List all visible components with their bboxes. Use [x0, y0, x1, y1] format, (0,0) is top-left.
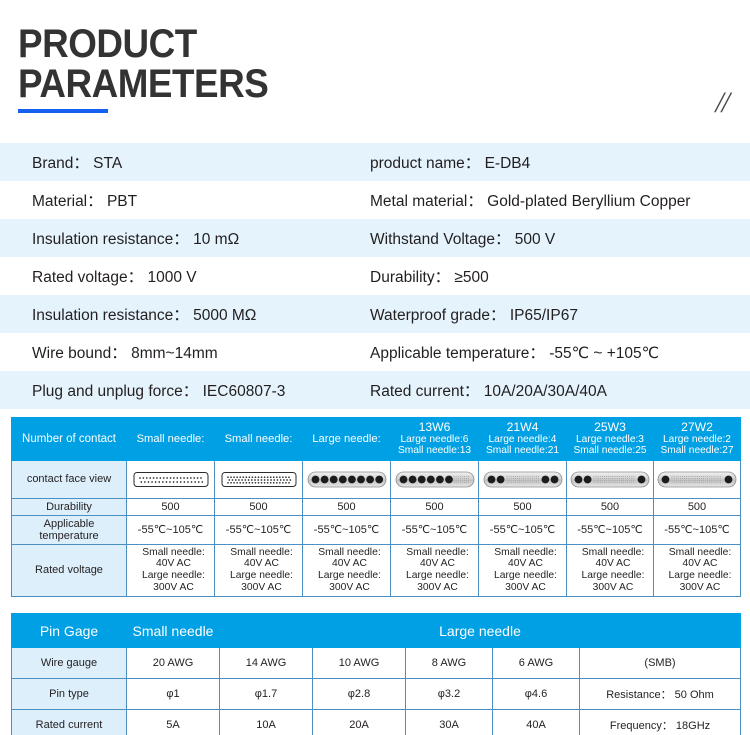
- table-cell: 500: [654, 498, 741, 515]
- table-row: Pin typeφ1φ1.7φ2.8φ3.2φ4.6Resistance： 50…: [12, 679, 741, 710]
- table-cell: 5A: [127, 710, 220, 735]
- contact-table: Number of contactSmall needle:37Small ne…: [11, 417, 741, 597]
- spec-entry-left: Rated voltage： 1000 V: [0, 265, 370, 287]
- spec-row: Material： PBTMetal material： Gold-plated…: [0, 181, 750, 219]
- spec-value: 10 mΩ: [193, 231, 239, 248]
- spec-key: Wire bound：: [32, 345, 131, 362]
- spec-key: product name：: [370, 155, 485, 172]
- table-cell: 30A: [406, 710, 493, 735]
- spec-value: -55℃ ~ +105℃: [549, 345, 659, 362]
- spec-list: Brand： STAproduct name： E-DB4Material： P…: [0, 143, 750, 409]
- contact-face-graphic: [127, 460, 215, 498]
- spec-key: Insulation resistance：: [32, 231, 193, 248]
- table-row: Rated current5A10A20A30A40AFrequency： 18…: [12, 710, 741, 735]
- contact-face-graphic: [567, 460, 654, 498]
- spec-row: Insulation resistance： 10 mΩWithstand Vo…: [0, 219, 750, 257]
- table-cell: 20A: [313, 710, 406, 735]
- spec-key: Insulation resistance：: [32, 307, 193, 324]
- table-cell: φ1: [127, 679, 220, 710]
- table-cell: 20 AWG: [127, 648, 220, 679]
- contact-face-graphic: [479, 460, 567, 498]
- table-cell: -55℃~105℃: [654, 515, 741, 544]
- table-cell: 500: [303, 498, 391, 515]
- table-cell: φ2.8: [313, 679, 406, 710]
- page-title: PRODUCT PARAMETERS: [18, 24, 290, 113]
- table-cell: 500: [391, 498, 479, 515]
- spec-key: Waterproof grade：: [370, 307, 510, 324]
- table-row: contact face view: [12, 460, 741, 498]
- pin-gage-body: Wire gauge20 AWG14 AWG10 AWG8 AWG6 AWG(S…: [12, 648, 741, 735]
- rated-voltage-cell: Small needle: 40V AC Large needle: 300V …: [654, 544, 741, 596]
- spec-key: Metal material：: [370, 193, 487, 210]
- contact-face-graphic: [303, 460, 391, 498]
- contact-face-graphic: [654, 460, 741, 498]
- table-cell: Resistance： 50 Ohm: [580, 679, 741, 710]
- contact-table-column-header: Small needle:62H: [215, 418, 303, 461]
- rated-voltage-cell: Small needle: 40V AC Large needle: 300V …: [215, 544, 303, 596]
- spec-value: PBT: [107, 193, 137, 210]
- slash-decoration-icon: //: [715, 86, 728, 120]
- spec-value: STA: [93, 155, 122, 172]
- column-header-large-count: Large needle:3: [568, 434, 652, 446]
- spec-value: 10A/20A/30A/40A: [484, 383, 607, 400]
- table-cell: φ4.6: [493, 679, 580, 710]
- page-title-line-2: PARAMETERS: [18, 64, 268, 104]
- table-cell: 500: [215, 498, 303, 515]
- spec-value: ≥500: [454, 269, 488, 286]
- spec-key: Durability：: [370, 269, 454, 286]
- spec-entry-left: Material： PBT: [0, 189, 370, 211]
- contact-face-graphic: [215, 460, 303, 498]
- contact-table-column-header: 13W6Large needle:6Small needle:13: [391, 418, 479, 461]
- spec-value: 500 V: [515, 231, 556, 248]
- spec-value: 8mm~14mm: [131, 345, 218, 362]
- spec-value: IEC60807-3: [203, 383, 286, 400]
- row-label: Applicable temperature: [12, 515, 127, 544]
- column-header-title: 21W4: [480, 421, 565, 434]
- row-label: Durability: [12, 498, 127, 515]
- spec-entry-left: Insulation resistance： 5000 MΩ: [0, 303, 370, 325]
- table-cell: φ3.2: [406, 679, 493, 710]
- column-header-large-count: Large needle:2: [655, 434, 739, 446]
- row-label: Pin type: [12, 679, 127, 710]
- column-header-title: 25W3: [568, 421, 652, 434]
- table-cell: 500: [127, 498, 215, 515]
- table-cell: -55℃~105℃: [303, 515, 391, 544]
- contact-table-corner-label: Number of contact: [12, 418, 127, 461]
- spec-value: Gold-plated Beryllium Copper: [487, 193, 690, 210]
- spec-value: IP65/IP67: [510, 307, 578, 324]
- row-label: Wire gauge: [12, 648, 127, 679]
- table-cell: -55℃~105℃: [479, 515, 567, 544]
- column-header-title: Small needle:: [225, 433, 293, 445]
- spec-entry-left: Wire bound： 8mm~14mm: [0, 341, 370, 363]
- column-header-small-count: Small needle:27: [655, 445, 739, 457]
- spec-key: Material：: [32, 193, 107, 210]
- table-cell: 10A: [220, 710, 313, 735]
- spec-entry-right: Durability： ≥500: [370, 265, 750, 287]
- column-header-small-count: Small needle:13: [392, 445, 477, 457]
- spec-entry-left: Brand： STA: [0, 151, 370, 173]
- table-row: Wire gauge20 AWG14 AWG10 AWG8 AWG6 AWG(S…: [12, 648, 741, 679]
- contact-table-header-row: Number of contactSmall needle:37Small ne…: [12, 418, 741, 461]
- pin-gage-small-needle-header: Small needle: [127, 614, 220, 648]
- spec-row: Wire bound： 8mm~14mmApplicable temperatu…: [0, 333, 750, 371]
- column-header-large-count: Large needle:4: [480, 434, 565, 446]
- spec-entry-left: Plug and unplug force： IEC60807-3: [0, 379, 370, 401]
- spec-key: Brand：: [32, 155, 93, 172]
- row-label: contact face view: [12, 460, 127, 498]
- spec-entry-right: Withstand Voltage： 500 V: [370, 227, 750, 249]
- contact-table-column-header: 21W4Large needle:4Small needle:21: [479, 418, 567, 461]
- rated-voltage-cell: Small needle: 40V AC Large needle: 300V …: [303, 544, 391, 596]
- spec-value: E-DB4: [485, 155, 531, 172]
- spec-key: Rated voltage：: [32, 269, 147, 286]
- contact-face-graphic: [391, 460, 479, 498]
- spec-entry-right: Rated current： 10A/20A/30A/40A: [370, 379, 750, 401]
- row-label: Rated current: [12, 710, 127, 735]
- spec-key: Rated current：: [370, 383, 484, 400]
- rated-voltage-cell: Small needle: 40V AC Large needle: 300V …: [127, 544, 215, 596]
- table-row: Rated voltageSmall needle: 40V AC Large …: [12, 544, 741, 596]
- contact-table-body: contact face viewDurability5005005005005…: [12, 460, 741, 596]
- pin-gage-table: Pin GageSmall needleLarge needle Wire ga…: [11, 613, 741, 735]
- table-cell: 8 AWG: [406, 648, 493, 679]
- contact-table-column-header: Large needle:8W8: [303, 418, 391, 461]
- spec-row: Rated voltage： 1000 VDurability： ≥500: [0, 257, 750, 295]
- table-cell: 500: [567, 498, 654, 515]
- pin-gage-header-row: Pin GageSmall needleLarge needle: [12, 614, 741, 648]
- contact-table-column-header: 25W3Large needle:3Small needle:25: [567, 418, 654, 461]
- column-header-title: 13W6: [392, 421, 477, 434]
- table-cell: -55℃~105℃: [567, 515, 654, 544]
- table-cell: 500: [479, 498, 567, 515]
- spec-entry-right: product name： E-DB4: [370, 151, 750, 173]
- table-cell: Frequency： 18GHz: [580, 710, 741, 735]
- column-header-small-count: Small needle:21: [480, 445, 565, 457]
- contact-table-column-header: Small needle:37: [127, 418, 215, 461]
- spec-value: 1000 V: [147, 269, 196, 286]
- table-cell: φ1.7: [220, 679, 313, 710]
- table-row: Applicable temperature-55℃~105℃-55℃~105℃…: [12, 515, 741, 544]
- spec-row: Plug and unplug force： IEC60807-3Rated c…: [0, 371, 750, 409]
- page-title-line-1: PRODUCT: [18, 24, 268, 64]
- table-cell: 6 AWG: [493, 648, 580, 679]
- rated-voltage-cell: Small needle: 40V AC Large needle: 300V …: [567, 544, 654, 596]
- spec-key: Withstand Voltage：: [370, 231, 515, 248]
- rated-voltage-cell: Small needle: 40V AC Large needle: 300V …: [391, 544, 479, 596]
- spec-key: Plug and unplug force：: [32, 383, 203, 400]
- row-label: Rated voltage: [12, 544, 127, 596]
- spec-entry-left: Insulation resistance： 10 mΩ: [0, 227, 370, 249]
- column-header-large-count: Large needle:6: [392, 434, 477, 446]
- product-parameters-page: PRODUCT PARAMETERS // Brand： STAproduct …: [0, 0, 750, 735]
- table-cell: 40A: [493, 710, 580, 735]
- table-cell: (SMB): [580, 648, 741, 679]
- pin-gage-large-needle-header: Large needle: [220, 614, 741, 648]
- contact-table-column-header: 27W2Large needle:2Small needle:27: [654, 418, 741, 461]
- spec-key: Applicable temperature：: [370, 345, 549, 362]
- column-header-title: Large needle:: [312, 433, 380, 445]
- title-accent-rule: [18, 109, 108, 113]
- spec-row: Brand： STAproduct name： E-DB4: [0, 143, 750, 181]
- column-header-small-count: Small needle:25: [568, 445, 652, 457]
- table-cell: -55℃~105℃: [391, 515, 479, 544]
- spec-entry-right: Applicable temperature： -55℃ ~ +105℃: [370, 341, 750, 363]
- column-header-title: Small needle:: [137, 433, 205, 445]
- table-cell: -55℃~105℃: [215, 515, 303, 544]
- table-cell: 14 AWG: [220, 648, 313, 679]
- spec-entry-right: Metal material： Gold-plated Beryllium Co…: [370, 189, 750, 211]
- table-cell: -55℃~105℃: [127, 515, 215, 544]
- spec-row: Insulation resistance： 5000 MΩWaterproof…: [0, 295, 750, 333]
- rated-voltage-cell: Small needle: 40V AC Large needle: 300V …: [479, 544, 567, 596]
- table-row: Durability500500500500500500500: [12, 498, 741, 515]
- spec-entry-right: Waterproof grade： IP65/IP67: [370, 303, 750, 325]
- column-header-title: 27W2: [655, 421, 739, 434]
- pin-gage-label: Pin Gage: [12, 614, 127, 648]
- spec-value: 5000 MΩ: [193, 307, 256, 324]
- table-cell: 10 AWG: [313, 648, 406, 679]
